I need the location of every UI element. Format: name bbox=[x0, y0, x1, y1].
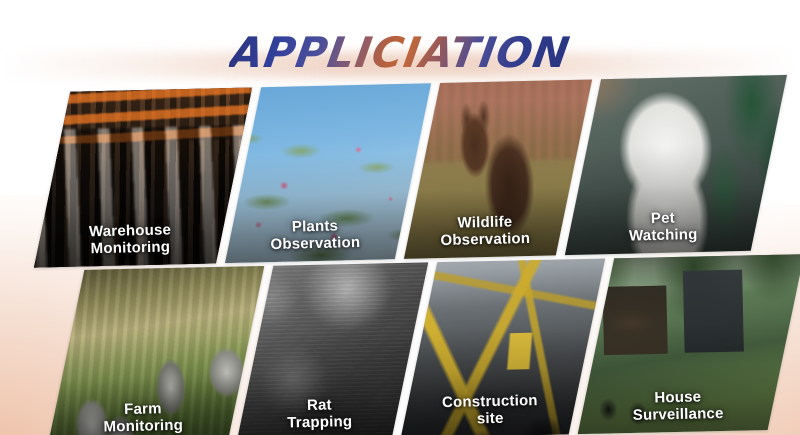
page-title: APPLICIATION bbox=[227, 28, 573, 77]
application-card-label: Pet Watching bbox=[570, 208, 757, 247]
application-card-label: Rat Trapping bbox=[242, 395, 398, 433]
application-card-rat-trapping[interactable]: Rat Trapping bbox=[237, 262, 429, 435]
application-slide: APPLICIATION Warehouse Monitoring Plants… bbox=[0, 0, 800, 435]
card-label-line2: Observation bbox=[413, 230, 557, 251]
application-row-2: Farm Monitoring Rat Trapping Constructio… bbox=[0, 254, 800, 435]
application-card-house-surveillance[interactable]: House Surveillance bbox=[578, 254, 800, 434]
card-label-line2: Monitoring bbox=[57, 416, 229, 435]
application-card-farm-monitoring[interactable]: Farm Monitoring bbox=[48, 266, 265, 435]
application-card-label: Wildlife Observation bbox=[409, 212, 562, 250]
application-card-label: Warehouse Monitoring bbox=[39, 220, 222, 259]
application-card-label: Construction site bbox=[406, 391, 575, 429]
application-card-plants-observation[interactable]: Plants Observation bbox=[225, 83, 431, 263]
application-card-label: Plants Observation bbox=[230, 216, 401, 255]
application-card-wildlife-observation[interactable]: Wildlife Observation bbox=[404, 79, 592, 258]
application-card-construction-site[interactable]: Construction site bbox=[401, 259, 606, 435]
application-card-label: House Surveillance bbox=[583, 387, 774, 426]
application-card-pet-watching[interactable]: Pet Watching bbox=[565, 75, 787, 255]
card-label-line2: Trapping bbox=[246, 413, 393, 434]
application-card-label: Farm Monitoring bbox=[53, 399, 234, 435]
application-card-warehouse-monitoring[interactable]: Warehouse Monitoring bbox=[34, 87, 252, 267]
application-row-1: Warehouse Monitoring Plants Observation … bbox=[0, 75, 800, 269]
page-title-container: APPLICIATION bbox=[0, 24, 800, 80]
